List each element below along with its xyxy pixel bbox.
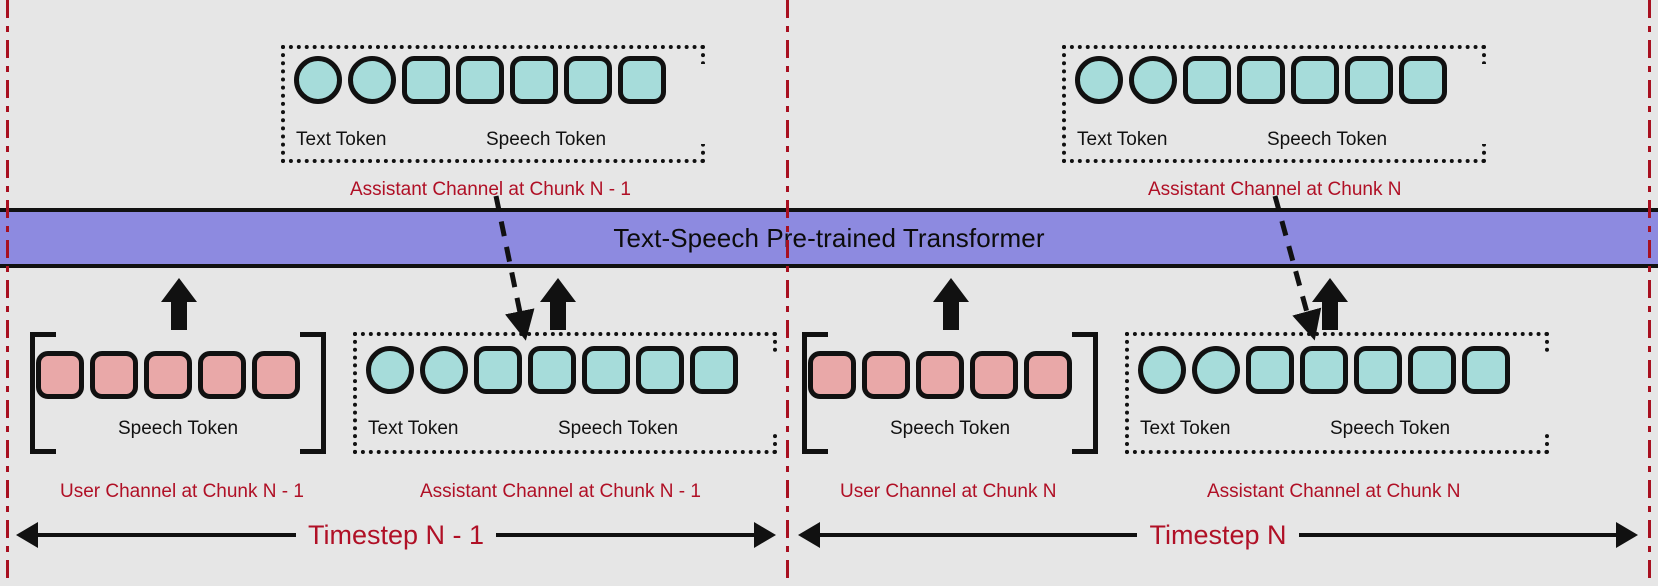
boundary-center <box>786 0 789 586</box>
speech-token <box>1291 56 1339 104</box>
speech-token <box>636 346 684 394</box>
speech-token <box>970 351 1018 399</box>
speech-token <box>1246 346 1294 394</box>
speech-token <box>144 351 192 399</box>
assistant-output-label-left: Assistant Channel at Chunk N - 1 <box>350 179 631 201</box>
speech-token <box>1354 346 1402 394</box>
assistant-input-tokens-1 <box>366 346 738 394</box>
arrow-line <box>496 533 754 537</box>
speech-token <box>564 56 612 104</box>
user-channel-label-2: User Channel at Chunk N <box>840 481 1057 503</box>
arrow-head-left <box>16 522 38 548</box>
assistant-input-tokens-2 <box>1138 346 1510 394</box>
speech-token <box>1345 56 1393 104</box>
assistant-channel-label-2: Assistant Channel at Chunk N <box>1207 481 1460 503</box>
assistant-output-tokens-left <box>294 56 666 104</box>
text-token-caption: Text Token <box>1140 418 1230 440</box>
transformer-label: Text-Speech Pre-trained Transformer <box>613 223 1044 254</box>
user-channel-label-1: User Channel at Chunk N - 1 <box>60 481 304 503</box>
arrow-head-right <box>1616 522 1638 548</box>
text-token <box>1192 346 1240 394</box>
speech-token <box>690 346 738 394</box>
speech-token <box>510 56 558 104</box>
speech-token <box>1408 346 1456 394</box>
box-edge-mask-1 <box>697 64 711 144</box>
assistant-output-tokens-right <box>1075 56 1447 104</box>
text-token <box>294 56 342 104</box>
transformer-bar: Text-Speech Pre-trained Transformer <box>0 208 1658 268</box>
user-tokens-1 <box>36 351 300 399</box>
speech-token <box>618 56 666 104</box>
arrow-line <box>1299 533 1616 537</box>
speech-token <box>1183 56 1231 104</box>
arrow-line <box>820 533 1137 537</box>
text-token <box>366 346 414 394</box>
text-token <box>348 56 396 104</box>
box-edge-mask-2 <box>1478 64 1492 144</box>
timestep-label: Timestep N - 1 <box>296 520 496 551</box>
speech-token <box>1399 56 1447 104</box>
assistant-channel-label-1: Assistant Channel at Chunk N - 1 <box>420 481 701 503</box>
timestep-label: Timestep N <box>1137 520 1298 551</box>
speech-token-caption: Speech Token <box>118 418 238 440</box>
speech-token <box>402 56 450 104</box>
box-edge-mask-3 <box>769 352 783 434</box>
text-token <box>1138 346 1186 394</box>
boundary-left <box>6 0 9 586</box>
text-token <box>420 346 468 394</box>
speech-token <box>916 351 964 399</box>
speech-token-caption: Speech Token <box>558 418 678 440</box>
speech-token <box>528 346 576 394</box>
arrow-head-right <box>754 522 776 548</box>
box-edge-mask-4 <box>1541 352 1555 434</box>
speech-token-caption: Speech Token <box>1330 418 1450 440</box>
text-token-caption: Text Token <box>368 418 458 440</box>
speech-token-caption: Speech Token <box>1267 129 1387 151</box>
text-token-caption: Text Token <box>296 129 386 151</box>
speech-token <box>1300 346 1348 394</box>
text-token-caption: Text Token <box>1077 129 1167 151</box>
speech-token <box>862 351 910 399</box>
speech-token <box>582 346 630 394</box>
speech-token <box>1462 346 1510 394</box>
speech-token <box>456 56 504 104</box>
timestep-arrow-right: Timestep N <box>798 515 1638 555</box>
user-tokens-2 <box>808 351 1072 399</box>
text-token <box>1075 56 1123 104</box>
speech-token <box>36 351 84 399</box>
text-token <box>1129 56 1177 104</box>
speech-token <box>1237 56 1285 104</box>
timestep-arrow-left: Timestep N - 1 <box>16 515 776 555</box>
speech-token <box>198 351 246 399</box>
boundary-right <box>1648 0 1651 586</box>
speech-token <box>1024 351 1072 399</box>
speech-token-caption: Speech Token <box>486 129 606 151</box>
arrow-head-left <box>798 522 820 548</box>
speech-token <box>808 351 856 399</box>
speech-token <box>252 351 300 399</box>
speech-token <box>90 351 138 399</box>
assistant-output-label-right: Assistant Channel at Chunk N <box>1148 179 1401 201</box>
user-bracket-right-1 <box>300 332 326 454</box>
speech-token <box>474 346 522 394</box>
arrow-line <box>38 533 296 537</box>
user-bracket-right-2 <box>1072 332 1098 454</box>
diagram-canvas: Text-Speech Pre-trained Transformer Text… <box>0 0 1658 586</box>
speech-token-caption: Speech Token <box>890 418 1010 440</box>
